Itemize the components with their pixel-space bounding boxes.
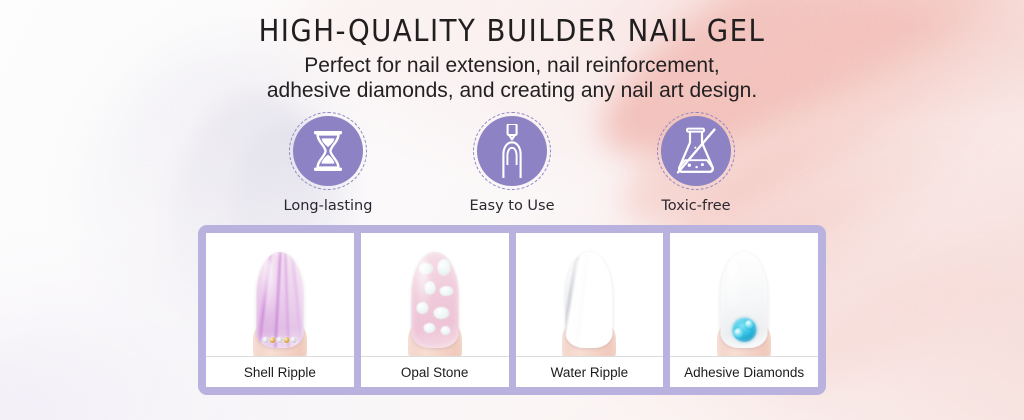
adhesive-diamonds-nail-photo (670, 233, 818, 356)
rhinestone (291, 337, 297, 343)
opal-patch (440, 326, 450, 335)
page-title: HIGH-QUALITY BUILDER NAIL GEL (41, 14, 983, 49)
page-subtitle: Perfect for nail extension, nail reinfor… (0, 53, 1024, 103)
product-banner: HIGH-QUALITY BUILDER NAIL GEL Perfect fo… (0, 0, 1024, 420)
opal-patch (416, 302, 428, 314)
variant-card-water-ripple[interactable]: Water Ripple (516, 233, 664, 387)
variant-card-label: Shell Ripple (206, 356, 354, 387)
finger (559, 250, 619, 356)
variant-card-adhesive-diamonds[interactable]: Adhesive Diamonds (670, 233, 818, 387)
feature-badge-list: Long-lasting Easy to Use (0, 112, 1024, 214)
dashed-ring (289, 112, 367, 190)
shell-ripple-nail-photo (206, 233, 354, 356)
badge-disc (293, 116, 363, 186)
rhinestone (270, 337, 276, 343)
feature-badge-easy-to-use: Easy to Use (464, 112, 560, 214)
finger (250, 250, 310, 356)
opal-patch (437, 259, 450, 276)
opal-patch (433, 307, 449, 319)
subtitle-line-2: adhesive diamonds, and creating any nail… (0, 78, 1024, 103)
opal-patch (424, 281, 435, 295)
opal-patch (439, 286, 453, 296)
rhinestone (263, 337, 269, 343)
feature-badge-toxic-free: Toxic-free (648, 112, 744, 214)
opal-patch (418, 263, 433, 274)
dashed-ring (473, 112, 551, 190)
product-variant-gallery: Shell Ripple O (198, 225, 826, 395)
rhinestone-cluster (263, 337, 297, 343)
variant-card-label: Opal Stone (361, 356, 509, 387)
feature-badge-long-lasting: Long-lasting (280, 112, 376, 214)
nail-surface (411, 252, 458, 348)
rhinestone (284, 337, 290, 343)
variant-card-label: Water Ripple (516, 356, 664, 387)
opal-stone-nail-photo (361, 233, 509, 356)
variant-card-label: Adhesive Diamonds (670, 356, 818, 387)
diamond-cluster (732, 318, 756, 342)
nail-surface (566, 252, 613, 348)
feature-badge-label: Easy to Use (469, 198, 554, 214)
badge-disc (661, 116, 731, 186)
variant-card-shell-ripple[interactable]: Shell Ripple (206, 233, 354, 387)
subtitle-line-1: Perfect for nail extension, nail reinfor… (304, 54, 720, 77)
nail-surface (256, 252, 303, 348)
hourglass-icon (308, 129, 348, 173)
water-ripple-nail-photo (516, 233, 664, 356)
nail-brush-icon (491, 124, 533, 178)
finger (714, 250, 774, 356)
rhinestone (277, 337, 283, 343)
feature-badge-label: Toxic-free (661, 198, 730, 214)
finger (405, 250, 465, 356)
variant-card-opal-stone[interactable]: Opal Stone (361, 233, 509, 387)
dashed-ring (657, 112, 735, 190)
feature-badge-label: Long-lasting (284, 198, 373, 214)
nail-surface (721, 252, 768, 348)
no-toxic-flask-icon (673, 127, 719, 175)
badge-disc (477, 116, 547, 186)
opal-patch (423, 323, 435, 333)
